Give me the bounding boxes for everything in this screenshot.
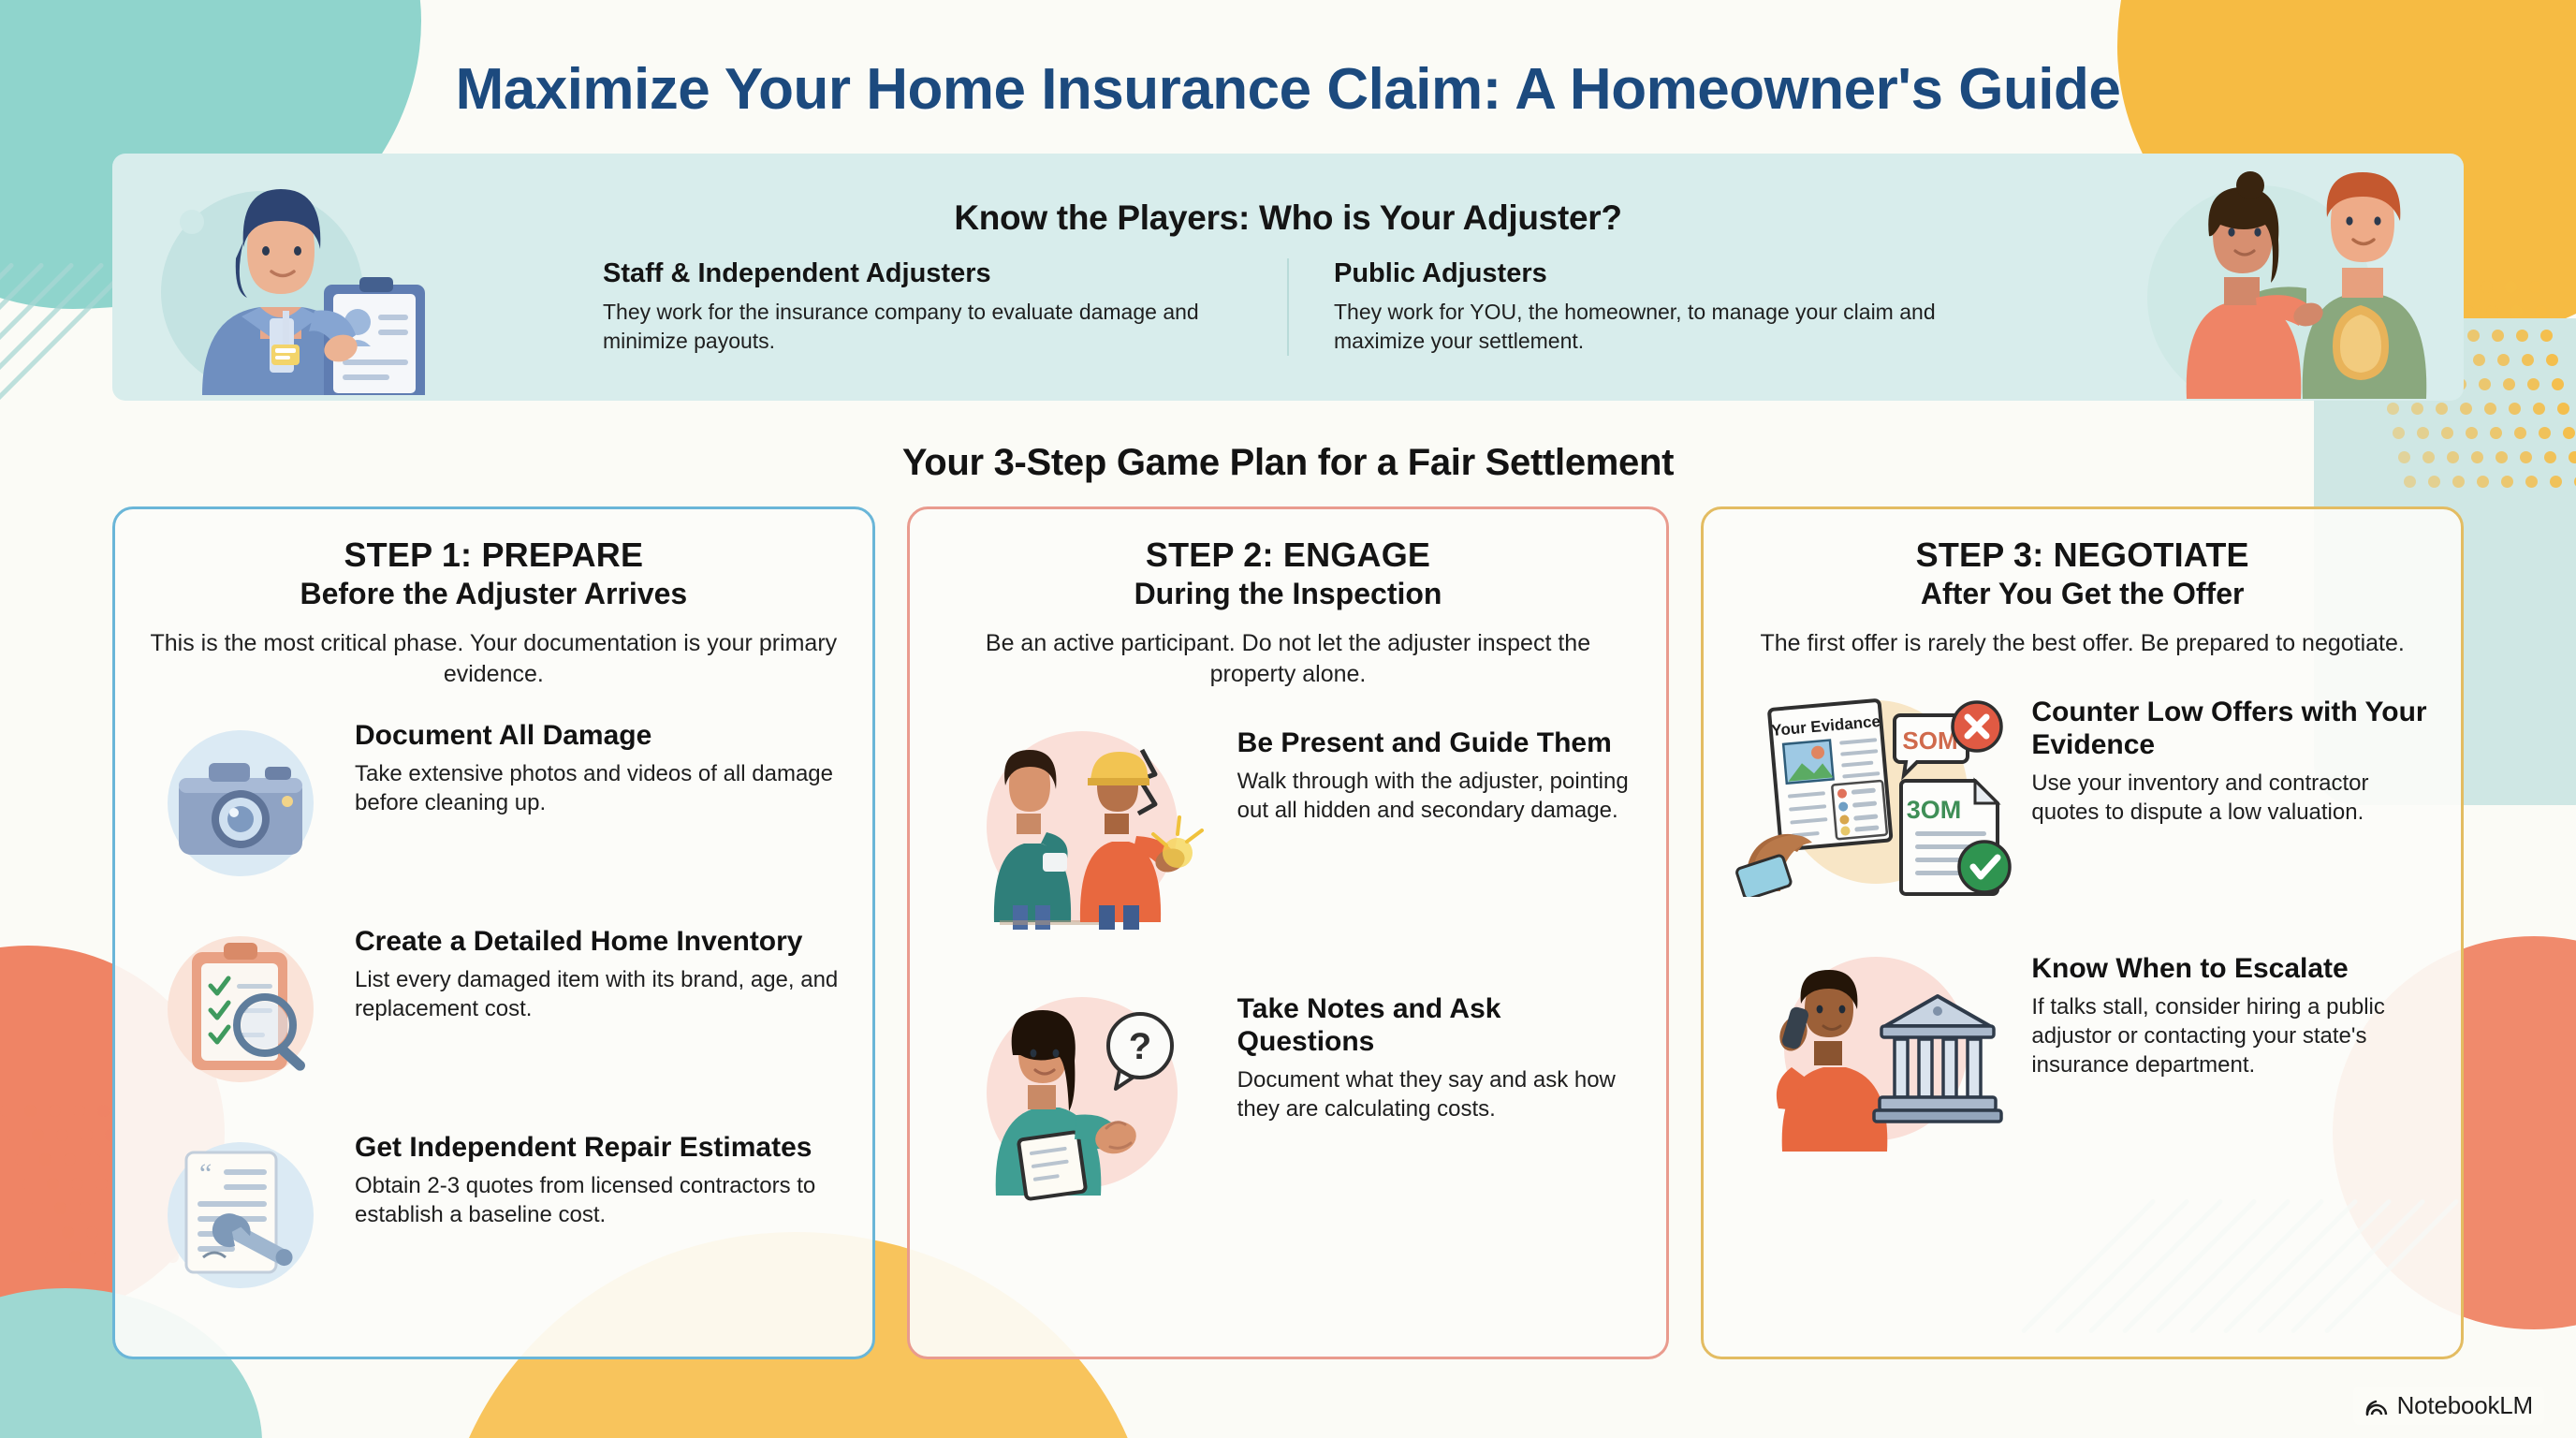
step-3-items: Your Evidance (1735, 691, 2429, 1153)
step-2-subtitle: During the Inspection (942, 577, 1635, 611)
players-column-body: They work for the insurance company to e… (603, 298, 1242, 356)
watermark-label: NotebookLM (2397, 1391, 2533, 1420)
list-item-text: Be Present and Guide Them Walk through w… (1237, 722, 1635, 825)
list-item-heading: Know When to Escalate (2031, 953, 2429, 986)
list-item-heading: Get Independent Repair Estimates (355, 1132, 841, 1165)
players-content: Know the Players: Who is Your Adjuster? … (558, 198, 2018, 356)
step-1-label: STEP 1: PREPARE (147, 536, 841, 575)
list-item: Know When to Escalate If talks stall, co… (1735, 947, 2429, 1153)
players-column-heading: Public Adjusters (1334, 258, 1973, 289)
svg-text:“: “ (199, 1158, 212, 1189)
accepted-offer-label: 3OM (1907, 796, 1962, 824)
watermark: NotebookLM (2353, 1387, 2544, 1425)
plan-heading: Your 3-Step Game Plan for a Fair Settlem… (112, 442, 2464, 484)
step-2-label: STEP 2: ENGAGE (942, 536, 1635, 575)
list-item-body: If talks stall, consider hiring a public… (2031, 992, 2429, 1080)
list-item: Your Evidance (1735, 691, 2429, 897)
evidence-documents-icon: Your Evidance (1735, 691, 2016, 897)
list-item-text: Document All Damage Take extensive photo… (355, 714, 841, 817)
players-column-heading: Staff & Independent Adjusters (603, 258, 1242, 289)
step-card-3: STEP 3: NEGOTIATE After You Get the Offe… (1701, 506, 2464, 1359)
list-item-body: Obtain 2-3 quotes from licensed contract… (355, 1171, 841, 1229)
step-2-description: Be an active participant. Do not let the… (942, 628, 1635, 690)
document-wrench-icon: “ (147, 1126, 334, 1304)
staff-adjuster-illustration (150, 161, 459, 395)
list-item-heading: Be Present and Guide Them (1237, 727, 1635, 760)
list-item-text: Take Notes and Ask Questions Document wh… (1237, 988, 1635, 1123)
svg-text:?: ? (1128, 1026, 1150, 1067)
list-item-body: Document what they say and ask how they … (1237, 1065, 1635, 1123)
players-column-staff: Staff & Independent Adjusters They work … (558, 258, 1287, 356)
inspection-walkthrough-icon (942, 722, 1222, 937)
list-item-heading: Take Notes and Ask Questions (1237, 993, 1635, 1059)
players-column-public: Public Adjusters They work for YOU, the … (1287, 258, 2018, 356)
step-card-1: STEP 1: PREPARE Before the Adjuster Arri… (112, 506, 875, 1359)
step-3-subtitle: After You Get the Offer (1735, 577, 2429, 611)
players-banner: Know the Players: Who is Your Adjuster? … (112, 154, 2464, 401)
step-1-subtitle: Before the Adjuster Arrives (147, 577, 841, 611)
list-item: Be Present and Guide Them Walk through w… (942, 722, 1635, 937)
step-3-label: STEP 3: NEGOTIATE (1735, 536, 2429, 575)
page-title: Maximize Your Home Insurance Claim: A Ho… (112, 0, 2464, 122)
list-item-heading: Create a Detailed Home Inventory (355, 926, 841, 959)
rejected-offer-label: SOM (1903, 726, 1958, 755)
list-item-heading: Counter Low Offers with Your Evidence (2031, 697, 2429, 762)
infographic-page: Maximize Your Home Insurance Claim: A Ho… (0, 0, 2576, 1438)
list-item-body: Take extensive photos and videos of all … (355, 759, 841, 817)
phone-bank-icon (1735, 947, 2016, 1153)
list-item-text: Know When to Escalate If talks stall, co… (2031, 947, 2429, 1079)
list-item: Create a Detailed Home Inventory List ev… (147, 920, 841, 1098)
camera-icon (147, 714, 334, 892)
step-2-items: Be Present and Guide Them Walk through w… (942, 722, 1635, 1203)
list-item-text: Counter Low Offers with Your Evidence Us… (2031, 691, 2429, 827)
steps-container: STEP 1: PREPARE Before the Adjuster Arri… (112, 506, 2464, 1359)
list-item-text: Get Independent Repair Estimates Obtain … (355, 1126, 841, 1229)
players-column-body: They work for YOU, the homeowner, to man… (1334, 298, 1973, 356)
list-item-heading: Document All Damage (355, 720, 841, 753)
notebooklm-icon (2364, 1394, 2389, 1418)
list-item: ? (942, 988, 1635, 1203)
players-heading: Know the Players: Who is Your Adjuster? (558, 198, 2018, 238)
step-3-description: The first offer is rarely the best offer… (1735, 628, 2429, 659)
list-item-body: List every damaged item with its brand, … (355, 965, 841, 1023)
step-1-description: This is the most critical phase. Your do… (147, 628, 841, 690)
step-card-2: STEP 2: ENGAGE During the Inspection Be … (907, 506, 1670, 1359)
clipboard-magnifier-icon (147, 920, 334, 1098)
list-item-body: Use your inventory and contractor quotes… (2031, 769, 2429, 827)
list-item: “ (147, 1126, 841, 1304)
list-item-text: Create a Detailed Home Inventory List ev… (355, 920, 841, 1023)
notepad-question-icon: ? (942, 988, 1222, 1203)
list-item: Document All Damage Take extensive photo… (147, 714, 841, 892)
step-1-items: Document All Damage Take extensive photo… (147, 714, 841, 1304)
list-item-body: Walk through with the adjuster, pointing… (1237, 767, 1635, 825)
public-adjuster-illustration (2026, 157, 2437, 399)
players-columns: Staff & Independent Adjusters They work … (558, 258, 2018, 356)
